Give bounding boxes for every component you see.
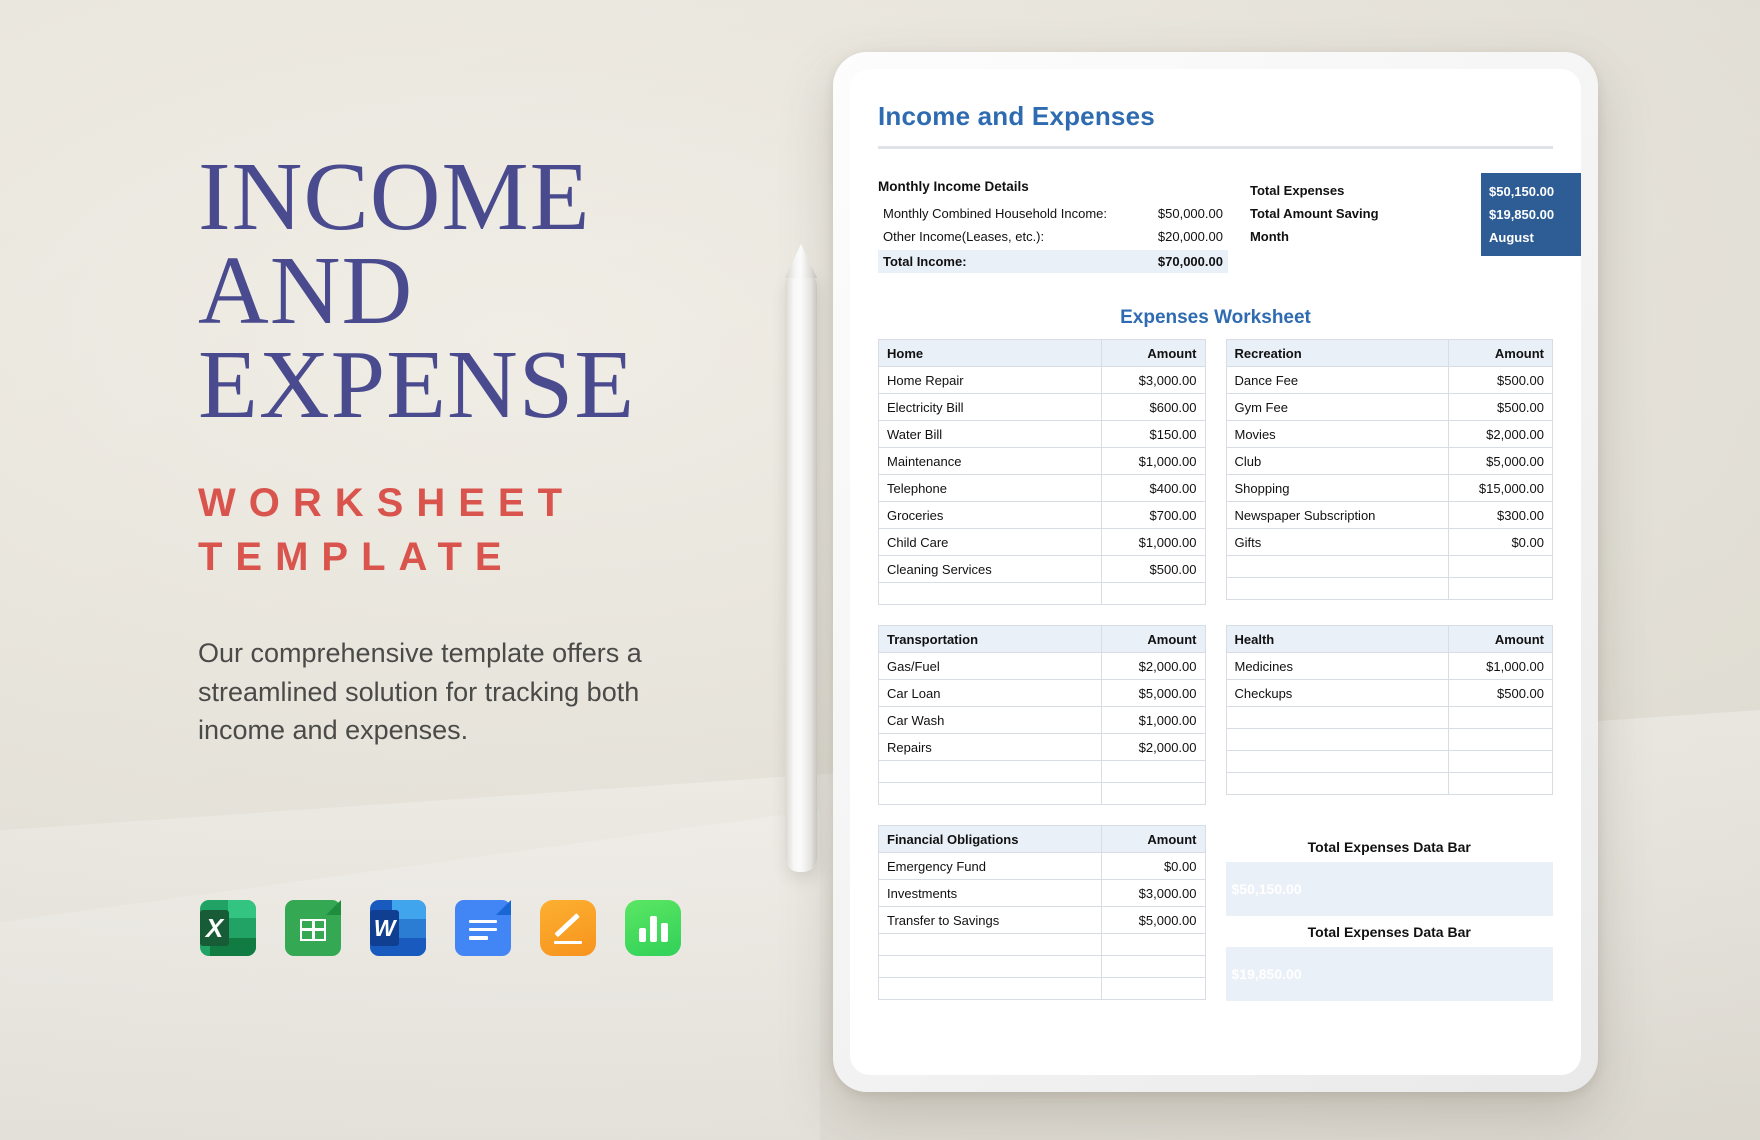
empty-cell <box>879 956 1102 978</box>
page-title: Income and Expenses <box>878 101 1553 146</box>
table-row[interactable]: Gifts$0.00 <box>1226 529 1553 556</box>
row-label: Dance Fee <box>1226 367 1449 394</box>
promo-panel: INCOME AND EXPENSE WORKSHEET TEMPLATE Ou… <box>198 150 718 749</box>
income-summary-section: Monthly Income Details Monthly Combined … <box>878 179 1553 273</box>
empty-cell <box>879 934 1102 956</box>
row-value: $500.00 <box>1449 394 1553 421</box>
income-row-value: $50,000.00 <box>1119 206 1223 221</box>
worksheet-title: Expenses Worksheet <box>878 307 1553 329</box>
row-value: $150.00 <box>1101 421 1205 448</box>
table-row-empty[interactable] <box>1226 729 1553 751</box>
apple-numbers-icon[interactable] <box>625 900 681 956</box>
row-value: $0.00 <box>1449 529 1553 556</box>
tablet-screen: Income and Expenses Monthly Income Detai… <box>850 69 1581 1075</box>
table-row[interactable]: Groceries$700.00 <box>879 502 1206 529</box>
row-label: Groceries <box>879 502 1102 529</box>
row-label: Investments <box>879 880 1102 907</box>
headline-line-2: AND <box>198 244 718 338</box>
row-value: $3,000.00 <box>1101 367 1205 394</box>
recreation-table-wrap: Recreation Amount Dance Fee$500.00 Gym F… <box>1226 339 1554 605</box>
table-row[interactable]: Newspaper Subscription$300.00 <box>1226 502 1553 529</box>
table-header-row: Recreation Amount <box>1226 340 1553 367</box>
table-row[interactable]: Telephone$400.00 <box>879 475 1206 502</box>
table-row-empty[interactable] <box>1226 707 1553 729</box>
row-label: Checkups <box>1226 680 1449 707</box>
row-label: Electricity Bill <box>879 394 1102 421</box>
row-label: Transfer to Savings <box>879 907 1102 934</box>
apple-pages-icon[interactable] <box>540 900 596 956</box>
table-row[interactable]: Cleaning Services$500.00 <box>879 556 1206 583</box>
table-row[interactable]: Movies$2,000.00 <box>1226 421 1553 448</box>
row-value: $500.00 <box>1449 367 1553 394</box>
table-row[interactable]: Gas/Fuel$2,000.00 <box>879 653 1206 680</box>
total-saving-data-bar[interactable]: $19,850.00 <box>1226 947 1554 1001</box>
row-value: $0.00 <box>1101 853 1205 880</box>
table-row[interactable]: Repairs$2,000.00 <box>879 734 1206 761</box>
row-value: $5,000.00 <box>1101 907 1205 934</box>
row-label: Telephone <box>879 475 1102 502</box>
row-value: $1,000.00 <box>1101 448 1205 475</box>
empty-cell <box>1449 751 1553 773</box>
empty-cell <box>1101 583 1205 605</box>
section-spacer <box>878 605 1553 625</box>
amount-header: Amount <box>1449 626 1553 653</box>
table-row-empty[interactable] <box>879 783 1206 805</box>
empty-cell <box>1226 578 1449 600</box>
empty-cell <box>1101 761 1205 783</box>
table-row[interactable]: Child Care$1,000.00 <box>879 529 1206 556</box>
income-section-label: Monthly Income Details <box>878 179 1228 194</box>
table-row[interactable]: Car Wash$1,000.00 <box>879 707 1206 734</box>
summary-label: Month <box>1250 229 1456 244</box>
data-bars-section: Total Expenses Data Bar $50,150.00 Total… <box>1226 825 1554 1001</box>
table-row[interactable]: Maintenance$1,000.00 <box>879 448 1206 475</box>
row-value: $5,000.00 <box>1449 448 1553 475</box>
table-row[interactable]: Home Repair$3,000.00 <box>879 367 1206 394</box>
row-value: $2,000.00 <box>1101 653 1205 680</box>
empty-cell <box>1449 773 1553 795</box>
table-row[interactable]: Investments$3,000.00 <box>879 880 1206 907</box>
subhead-line-2: TEMPLATE <box>198 530 718 584</box>
promo-subhead: WORKSHEET TEMPLATE <box>198 476 718 584</box>
table-row-empty[interactable] <box>879 978 1206 1000</box>
word-letter: W <box>370 910 399 947</box>
row-label: Gym Fee <box>1226 394 1449 421</box>
table-row-empty[interactable] <box>1226 773 1553 795</box>
empty-cell <box>879 783 1102 805</box>
summary-label: Total Expenses <box>1250 183 1456 198</box>
expenses-row-3: Financial Obligations Amount Emergency F… <box>878 825 1553 1001</box>
row-label: Gifts <box>1226 529 1449 556</box>
row-value: $3,000.00 <box>1101 880 1205 907</box>
row-value: $15,000.00 <box>1449 475 1553 502</box>
google-sheets-icon[interactable] <box>285 900 341 956</box>
subhead-line-1: WORKSHEET <box>198 476 718 530</box>
amount-header: Amount <box>1101 826 1205 853</box>
row-label: Repairs <box>879 734 1102 761</box>
summary-label: Total Amount Saving <box>1250 206 1456 221</box>
row-value: $1,000.00 <box>1101 529 1205 556</box>
table-header-row: Financial Obligations Amount <box>879 826 1206 853</box>
row-value: $500.00 <box>1449 680 1553 707</box>
monthly-income-details: Monthly Income Details Monthly Combined … <box>878 179 1228 273</box>
row-label: Child Care <box>879 529 1102 556</box>
empty-cell <box>1449 556 1553 578</box>
row-label: Car Wash <box>879 707 1102 734</box>
income-row-label: Other Income(Leases, etc.): <box>883 229 1119 244</box>
transportation-table-wrap: Transportation Amount Gas/Fuel$2,000.00 … <box>878 625 1206 805</box>
table-row-empty[interactable] <box>1226 556 1553 578</box>
table-header-row: Health Amount <box>1226 626 1553 653</box>
table-row-empty[interactable] <box>879 583 1206 605</box>
expenses-row-1: Home Amount Home Repair$3,000.00 Electri… <box>878 339 1553 605</box>
row-value: $1,000.00 <box>1101 707 1205 734</box>
microsoft-excel-icon[interactable]: X <box>200 900 256 956</box>
title-divider <box>878 146 1553 149</box>
table-row[interactable]: Club$5,000.00 <box>1226 448 1553 475</box>
table-row[interactable]: Medicines$1,000.00 <box>1226 653 1553 680</box>
row-value: $700.00 <box>1101 502 1205 529</box>
headline-line-3: EXPENSE <box>198 338 718 432</box>
total-expenses-value: $50,150.00 <box>1489 180 1581 203</box>
row-label: Home Repair <box>879 367 1102 394</box>
amount-header: Amount <box>1101 340 1205 367</box>
headline-line-1: INCOME <box>198 150 718 244</box>
expenses-row-2: Transportation Amount Gas/Fuel$2,000.00 … <box>878 625 1553 805</box>
row-label: Newspaper Subscription <box>1226 502 1449 529</box>
empty-cell <box>1449 578 1553 600</box>
databar-value: $50,150.00 <box>1232 881 1302 897</box>
row-value: $1,000.00 <box>1449 653 1553 680</box>
table-row[interactable]: Water Bill$150.00 <box>879 421 1206 448</box>
row-label: Water Bill <box>879 421 1102 448</box>
amount-header: Amount <box>1449 340 1553 367</box>
empty-cell <box>879 761 1102 783</box>
row-label: Car Loan <box>879 680 1102 707</box>
total-income-value: $70,000.00 <box>1119 254 1223 269</box>
empty-cell <box>1226 729 1449 751</box>
row-value: $400.00 <box>1101 475 1205 502</box>
table-row-empty[interactable] <box>879 761 1206 783</box>
table-row[interactable]: Checkups$500.00 <box>1226 680 1553 707</box>
health-header: Health <box>1226 626 1449 653</box>
spreadsheet-document: Income and Expenses Monthly Income Detai… <box>850 101 1581 1001</box>
total-expenses-data-bar[interactable]: $50,150.00 <box>1226 862 1554 916</box>
empty-cell <box>1101 783 1205 805</box>
table-header-row: Home Amount <box>879 340 1206 367</box>
excel-letter: X <box>200 910 229 947</box>
empty-cell <box>1226 773 1449 795</box>
empty-cell <box>1226 707 1449 729</box>
summary-values-highlight[interactable]: $50,150.00 $19,850.00 August <box>1481 173 1581 256</box>
empty-cell <box>1226 751 1449 773</box>
row-label: Shopping <box>1226 475 1449 502</box>
promo-headline: INCOME AND EXPENSE <box>198 150 718 432</box>
table-header-row: Transportation Amount <box>879 626 1206 653</box>
table-row-empty[interactable] <box>879 934 1206 956</box>
row-label: Club <box>1226 448 1449 475</box>
row-value: $600.00 <box>1101 394 1205 421</box>
income-row-label: Monthly Combined Household Income: <box>883 206 1119 221</box>
financial-table-wrap: Financial Obligations Amount Emergency F… <box>878 825 1206 1001</box>
empty-cell <box>1101 934 1205 956</box>
table-row[interactable]: Emergency Fund$0.00 <box>879 853 1206 880</box>
stylus-pen <box>785 272 817 872</box>
table-row[interactable]: Car Loan$5,000.00 <box>879 680 1206 707</box>
row-value: $2,000.00 <box>1101 734 1205 761</box>
row-label: Cleaning Services <box>879 556 1102 583</box>
total-income-label: Total Income: <box>883 254 1119 269</box>
total-saving-value: $19,850.00 <box>1489 203 1581 226</box>
row-label: Maintenance <box>879 448 1102 475</box>
recreation-header: Recreation <box>1226 340 1449 367</box>
table-row-empty[interactable] <box>879 956 1206 978</box>
row-value: $5,000.00 <box>1101 680 1205 707</box>
compatible-apps-row: X W <box>200 900 681 956</box>
empty-cell <box>1101 978 1205 1000</box>
empty-cell <box>879 583 1102 605</box>
income-row[interactable]: Other Income(Leases, etc.): $20,000.00 <box>878 225 1228 248</box>
tablet-device: Income and Expenses Monthly Income Detai… <box>833 52 1598 1092</box>
total-income-row[interactable]: Total Income: $70,000.00 <box>878 250 1228 273</box>
home-expenses-table: Home Amount Home Repair$3,000.00 Electri… <box>878 339 1206 605</box>
financial-header: Financial Obligations <box>879 826 1102 853</box>
empty-cell <box>1449 729 1553 751</box>
income-row-value: $20,000.00 <box>1119 229 1223 244</box>
transportation-header: Transportation <box>879 626 1102 653</box>
empty-cell <box>1449 707 1553 729</box>
row-label: Gas/Fuel <box>879 653 1102 680</box>
row-value: $300.00 <box>1449 502 1553 529</box>
table-row[interactable]: Dance Fee$500.00 <box>1226 367 1553 394</box>
row-label: Movies <box>1226 421 1449 448</box>
table-row[interactable]: Gym Fee$500.00 <box>1226 394 1553 421</box>
table-row-empty[interactable] <box>1226 751 1553 773</box>
row-label: Medicines <box>1226 653 1449 680</box>
databar-title: Total Expenses Data Bar <box>1226 839 1554 855</box>
databar-title: Total Expenses Data Bar <box>1226 924 1554 940</box>
month-value: August <box>1489 226 1581 249</box>
recreation-expenses-table: Recreation Amount Dance Fee$500.00 Gym F… <box>1226 339 1554 600</box>
table-row[interactable]: Shopping$15,000.00 <box>1226 475 1553 502</box>
table-row-empty[interactable] <box>1226 578 1553 600</box>
empty-cell <box>1226 556 1449 578</box>
empty-cell <box>879 978 1102 1000</box>
row-label: Emergency Fund <box>879 853 1102 880</box>
row-value: $500.00 <box>1101 556 1205 583</box>
health-expenses-table: Health Amount Medicines$1,000.00 Checkup… <box>1226 625 1554 795</box>
income-row[interactable]: Monthly Combined Household Income: $50,0… <box>878 202 1228 225</box>
transportation-expenses-table: Transportation Amount Gas/Fuel$2,000.00 … <box>878 625 1206 805</box>
empty-cell <box>1101 956 1205 978</box>
row-value: $2,000.00 <box>1449 421 1553 448</box>
databar-value: $19,850.00 <box>1232 966 1302 982</box>
health-table-wrap: Health Amount Medicines$1,000.00 Checkup… <box>1226 625 1554 805</box>
financial-obligations-table: Financial Obligations Amount Emergency F… <box>878 825 1206 1000</box>
home-table-wrap: Home Amount Home Repair$3,000.00 Electri… <box>878 339 1206 605</box>
amount-header: Amount <box>1101 626 1205 653</box>
section-spacer <box>878 805 1553 825</box>
home-header: Home <box>879 340 1102 367</box>
promo-description: Our comprehensive template offers a stre… <box>198 634 668 749</box>
table-row[interactable]: Electricity Bill$600.00 <box>879 394 1206 421</box>
microsoft-word-icon[interactable]: W <box>370 900 426 956</box>
summary-totals: Total Expenses Total Amount Saving Month… <box>1250 179 1553 273</box>
google-docs-icon[interactable] <box>455 900 511 956</box>
table-row[interactable]: Transfer to Savings$5,000.00 <box>879 907 1206 934</box>
